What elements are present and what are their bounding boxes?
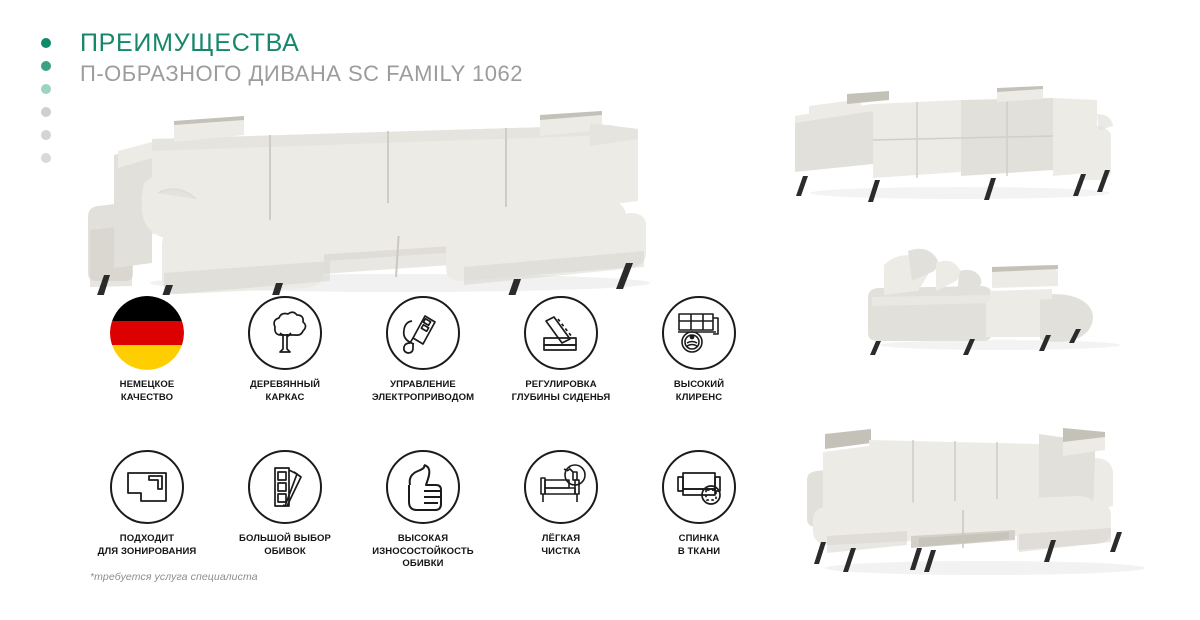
page-subtitle: П-ОБРАЗНОГО ДИВАНА SC FAMILY 1062 [80,60,523,88]
thumbs-up-icon [386,450,460,524]
feature-wear-resistance[interactable]: ВЫСОКАЯ ИЗНОСОСТОЙКОСТЬ ОБИВКИ [354,450,492,571]
feature-icon-grid: НЕМЕЦКОЕ КАЧЕСТВО ДЕРЕВЯННЫЙ КАРКАС [78,296,768,571]
sofa-main-front-three-quarter [70,95,680,295]
remote-control-icon [386,296,460,370]
feature-upholstery-choice[interactable]: БОЛЬШОЙ ВЫБОР ОБИВОК [216,450,354,571]
feature-fabric-back[interactable]: СПИНКА В ТКАНИ [630,450,768,571]
feature-label: НЕМЕЦКОЕ КАЧЕСТВО [120,379,175,404]
feature-high-clearance[interactable]: ВЫСОКИЙ КЛИРЕНС [630,296,768,404]
feature-label: УПРАВЛЕНИЕ ЭЛЕКТРОПРИВОДОМ [372,379,474,404]
feature-label: БОЛЬШОЙ ВЫБОР ОБИВОК [239,533,331,558]
page-title: ПРЕИМУЩЕСТВА [80,28,523,58]
progress-dot-1 [41,38,51,48]
feature-label: ЛЁГКАЯ ЧИСТКА [541,533,580,558]
fabric-back-icon [662,450,736,524]
feature-wooden-frame[interactable]: ДЕРЕВЯННЫЙ КАРКАС [216,296,354,404]
feature-label: СПИНКА В ТКАНИ [678,533,720,558]
dot-progress-column [41,38,51,163]
progress-dot-4 [41,107,51,117]
feature-seat-depth-adjust[interactable]: РЕГУЛИРОВКА ГЛУБИНЫ СИДЕНЬЯ [492,296,630,404]
progress-dot-6 [41,153,51,163]
progress-dot-3 [41,84,51,94]
feature-easy-cleaning[interactable]: ЛЁГКАЯ ЧИСТКА [492,450,630,571]
tree-icon [248,296,322,370]
german-flag-icon [110,296,184,370]
feature-row-1: НЕМЕЦКОЕ КАЧЕСТВО ДЕРЕВЯННЫЙ КАРКАС [78,296,768,404]
zoning-floorplan-icon [110,450,184,524]
feature-german-quality[interactable]: НЕМЕЦКОЕ КАЧЕСТВО [78,296,216,404]
easy-clean-spray-icon [524,450,598,524]
feature-label: ДЕРЕВЯННЫЙ КАРКАС [250,379,320,404]
feature-label: ВЫСОКАЯ ИЗНОСОСТОЙКОСТЬ ОБИВКИ [372,533,473,571]
feature-electric-drive-control[interactable]: УПРАВЛЕНИЕ ЭЛЕКТРОПРИВОДОМ [354,296,492,404]
sofa-bed-unfolded-view [795,418,1165,578]
feature-row-2: ПОДХОДИТ ДЛЯ ЗОНИРОВАНИЯ БОЛЬШОЙ ВЫБОР О… [78,450,768,571]
sofa-side-view [850,235,1140,355]
fabric-swatch-icon [248,450,322,524]
progress-dot-5 [41,130,51,140]
feature-label: РЕГУЛИРОВКА ГЛУБИНЫ СИДЕНЬЯ [512,379,611,404]
seat-depth-icon [524,296,598,370]
feature-zoning[interactable]: ПОДХОДИТ ДЛЯ ЗОНИРОВАНИЯ [78,450,216,571]
slide-canvas: ПРЕИМУЩЕСТВА П-ОБРАЗНОГО ДИВАНА SC FAMIL… [0,0,1200,620]
sofa-back-view [785,78,1130,203]
progress-dot-2 [41,61,51,71]
page-heading: ПРЕИМУЩЕСТВА П-ОБРАЗНОГО ДИВАНА SC FAMIL… [80,28,523,88]
feature-label: ПОДХОДИТ ДЛЯ ЗОНИРОВАНИЯ [98,533,197,558]
feature-label: ВЫСОКИЙ КЛИРЕНС [674,379,724,404]
footnote-text: *требуется услуга специалиста [90,571,258,583]
robot-vacuum-clearance-icon [662,296,736,370]
